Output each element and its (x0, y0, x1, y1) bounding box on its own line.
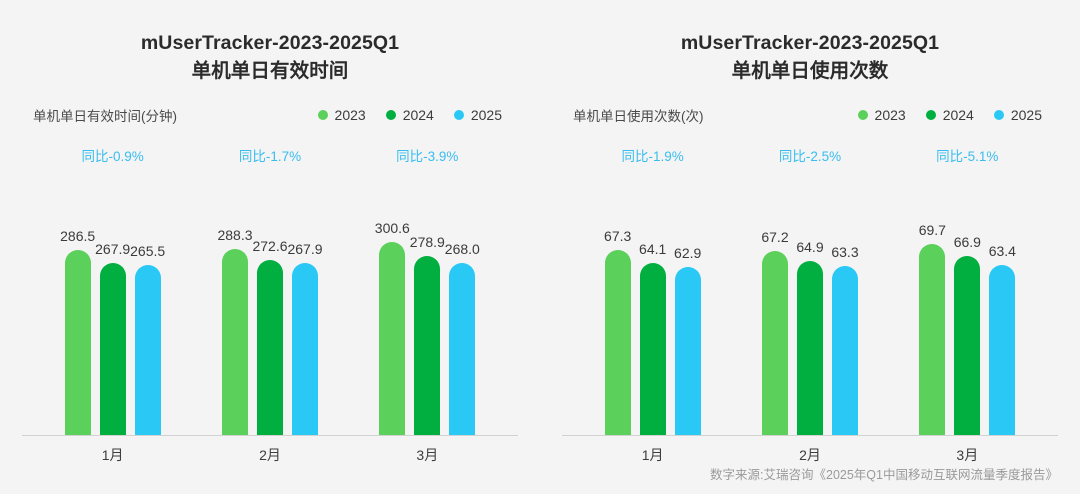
chart-page: mUserTracker-2023-2025Q1 单机单日有效时间 单机单日有效… (0, 0, 1080, 494)
legend-label-2024-right: 2024 (943, 107, 974, 123)
right-bar-mar-2024[interactable]: 66.9 (954, 135, 980, 435)
legend-dot-2025-right-icon (994, 110, 1004, 120)
left-bar-value-mar-2024: 278.9 (410, 234, 445, 250)
right-bar-feb-2023[interactable]: 67.2 (762, 135, 788, 435)
right-bar-rect-feb-2025 (832, 266, 858, 435)
legend-dot-2024-right-icon (926, 110, 936, 120)
legend-label-2023-right: 2023 (875, 107, 906, 123)
right-chart-title-line1: mUserTracker-2023-2025Q1 (681, 32, 939, 54)
right-bar-rect-feb-2023 (762, 251, 788, 435)
right-chart-title: mUserTracker-2023-2025Q1 单机单日使用次数 (560, 0, 1060, 85)
left-bars-feb: 288.3 272.6 267.9 (222, 135, 318, 435)
left-bar-groups: 同比-0.9% 286.5 267.9 265.5 (34, 135, 506, 435)
legend-item-2025[interactable]: 2025 (454, 107, 502, 123)
right-legend-row: 单机单日使用次数(次) 2023 2024 2025 (560, 105, 1060, 125)
chart-panel-usage-count: mUserTracker-2023-2025Q1 单机单日使用次数 单机单日使用… (540, 0, 1080, 494)
left-bar-value-feb-2024: 272.6 (252, 238, 287, 254)
left-bar-rect-feb-2024 (257, 260, 283, 435)
left-chart-title-line1: mUserTracker-2023-2025Q1 (141, 32, 399, 54)
left-bar-mar-2025[interactable]: 268.0 (449, 135, 475, 435)
right-legend: 2023 2024 2025 (858, 107, 1042, 123)
right-bar-rect-jan-2023 (605, 250, 631, 435)
chart-panels: mUserTracker-2023-2025Q1 单机单日有效时间 单机单日有效… (0, 0, 1080, 494)
right-bar-value-feb-2025: 63.3 (831, 244, 858, 260)
left-bar-rect-feb-2023 (222, 249, 248, 435)
right-tick-row: 1月 2月 3月 (560, 445, 1060, 465)
legend-item-2025-right[interactable]: 2025 (994, 107, 1042, 123)
right-bar-rect-mar-2024 (954, 256, 980, 435)
left-bar-rect-jan-2023 (65, 250, 91, 435)
left-tick-feb: 2月 (191, 445, 348, 465)
right-bar-rect-feb-2024 (797, 261, 823, 435)
legend-label-2025: 2025 (471, 107, 502, 123)
left-group-jan: 同比-0.9% 286.5 267.9 265.5 (34, 135, 191, 435)
right-bar-jan-2024[interactable]: 64.1 (640, 135, 666, 435)
right-bar-feb-2024[interactable]: 64.9 (797, 135, 823, 435)
right-plot-area: 同比-1.9% 67.3 64.1 62.9 (560, 135, 1060, 435)
right-bar-jan-2025[interactable]: 62.9 (675, 135, 701, 435)
left-bar-feb-2024[interactable]: 272.6 (257, 135, 283, 435)
right-bar-rect-mar-2025 (989, 265, 1015, 435)
right-bar-jan-2023[interactable]: 67.3 (605, 135, 631, 435)
left-tick-mar: 3月 (349, 445, 506, 465)
right-bar-value-mar-2023: 69.7 (919, 222, 946, 238)
right-bar-rect-jan-2025 (675, 267, 701, 435)
left-bar-rect-jan-2025 (135, 265, 161, 435)
right-bar-value-mar-2025: 63.4 (989, 243, 1016, 259)
source-note: 数字来源:艾瑞咨询《2025年Q1中国移动互联网流量季度报告》 (710, 464, 1058, 483)
left-bar-value-feb-2025: 267.9 (287, 241, 322, 257)
left-bar-feb-2023[interactable]: 288.3 (222, 135, 248, 435)
right-bar-value-mar-2024: 66.9 (954, 234, 981, 250)
right-bars-feb: 67.2 64.9 63.3 (762, 135, 858, 435)
right-bar-rect-mar-2023 (919, 244, 945, 435)
left-tick-row: 1月 2月 3月 (20, 445, 520, 465)
right-bars-mar: 69.7 66.9 63.4 (919, 135, 1015, 435)
left-bar-rect-mar-2024 (414, 256, 440, 435)
right-bar-value-jan-2023: 67.3 (604, 228, 631, 244)
left-bar-value-jan-2025: 265.5 (130, 243, 165, 259)
legend-dot-2023-icon (318, 110, 328, 120)
right-chart-title-line2: 单机单日使用次数 (560, 58, 1060, 86)
right-bar-rect-jan-2024 (640, 263, 666, 435)
left-bar-jan-2023[interactable]: 286.5 (65, 135, 91, 435)
left-axis-title: 单机单日有效时间(分钟) (33, 105, 177, 125)
left-bar-value-jan-2024: 267.9 (95, 241, 130, 257)
left-bar-feb-2025[interactable]: 267.9 (292, 135, 318, 435)
legend-item-2023-right[interactable]: 2023 (858, 107, 906, 123)
left-bar-mar-2024[interactable]: 278.9 (414, 135, 440, 435)
right-bars-jan: 67.3 64.1 62.9 (605, 135, 701, 435)
left-group-feb: 同比-1.7% 288.3 272.6 267.9 (191, 135, 348, 435)
left-bar-jan-2024[interactable]: 267.9 (100, 135, 126, 435)
right-group-jan: 同比-1.9% 67.3 64.1 62.9 (574, 135, 731, 435)
legend-dot-2023-right-icon (858, 110, 868, 120)
left-bar-rect-jan-2024 (100, 263, 126, 435)
right-tick-mar: 3月 (889, 445, 1046, 465)
legend-item-2023[interactable]: 2023 (318, 107, 366, 123)
legend-dot-2024-icon (386, 110, 396, 120)
legend-label-2024: 2024 (403, 107, 434, 123)
right-bar-value-feb-2023: 67.2 (761, 229, 788, 245)
left-bar-mar-2023[interactable]: 300.6 (379, 135, 405, 435)
left-bar-value-jan-2023: 286.5 (60, 228, 95, 244)
right-group-feb: 同比-2.5% 67.2 64.9 63.3 (731, 135, 888, 435)
legend-dot-2025-icon (454, 110, 464, 120)
left-legend: 2023 2024 2025 (318, 107, 502, 123)
right-group-mar: 同比-5.1% 69.7 66.9 63.4 (889, 135, 1046, 435)
right-axis-title: 单机单日使用次数(次) (573, 105, 704, 125)
left-tick-jan: 1月 (34, 445, 191, 465)
chart-panel-effective-time: mUserTracker-2023-2025Q1 单机单日有效时间 单机单日有效… (0, 0, 540, 494)
right-tick-jan: 1月 (574, 445, 731, 465)
legend-item-2024[interactable]: 2024 (386, 107, 434, 123)
left-chart-title: mUserTracker-2023-2025Q1 单机单日有效时间 (20, 0, 520, 85)
right-tick-feb: 2月 (731, 445, 888, 465)
legend-item-2024-right[interactable]: 2024 (926, 107, 974, 123)
left-bars-mar: 300.6 278.9 268.0 (379, 135, 475, 435)
right-bar-mar-2025[interactable]: 63.4 (989, 135, 1015, 435)
right-bar-value-jan-2024: 64.1 (639, 241, 666, 257)
left-plot-area: 同比-0.9% 286.5 267.9 265.5 (20, 135, 520, 435)
left-bar-jan-2025[interactable]: 265.5 (135, 135, 161, 435)
right-bar-mar-2023[interactable]: 69.7 (919, 135, 945, 435)
left-axis-line (22, 435, 518, 436)
left-bar-rect-mar-2025 (449, 263, 475, 435)
left-group-mar: 同比-3.9% 300.6 278.9 268.0 (349, 135, 506, 435)
left-chart-title-line2: 单机单日有效时间 (20, 58, 520, 86)
left-bars-jan: 286.5 267.9 265.5 (65, 135, 161, 435)
left-legend-row: 单机单日有效时间(分钟) 2023 2024 2025 (20, 105, 520, 125)
right-bar-groups: 同比-1.9% 67.3 64.1 62.9 (574, 135, 1046, 435)
right-axis-line (562, 435, 1058, 436)
right-bar-value-feb-2024: 64.9 (796, 239, 823, 255)
left-bar-rect-mar-2023 (379, 242, 405, 435)
left-bar-value-mar-2023: 300.6 (375, 220, 410, 236)
legend-label-2025-right: 2025 (1011, 107, 1042, 123)
right-bar-value-jan-2025: 62.9 (674, 245, 701, 261)
left-bar-value-mar-2025: 268.0 (445, 241, 480, 257)
left-bar-value-feb-2023: 288.3 (217, 227, 252, 243)
legend-label-2023: 2023 (335, 107, 366, 123)
right-bar-feb-2025[interactable]: 63.3 (832, 135, 858, 435)
left-bar-rect-feb-2025 (292, 263, 318, 435)
